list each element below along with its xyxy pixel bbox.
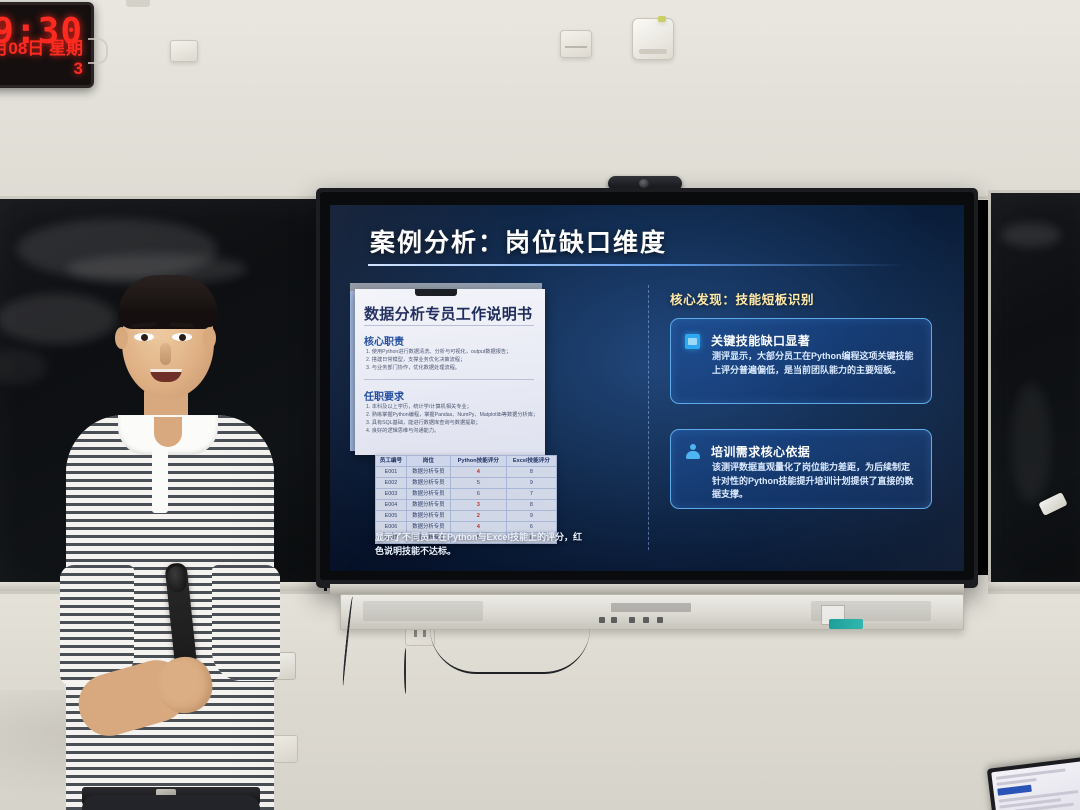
document-list-item: 2. 搭建日常模型，支撑业务优化决策流程； bbox=[366, 357, 465, 364]
ceiling-fixture bbox=[126, 0, 150, 7]
wall-cable bbox=[404, 648, 408, 694]
table-header-row: 员工编号 岗位 Python技能评分 Excel技能评分 bbox=[376, 456, 557, 467]
table-row: E005数据分析专员29 bbox=[376, 511, 557, 522]
table-row: E003数据分析专员67 bbox=[376, 489, 557, 500]
finding-card-title: 培训需求核心依据 bbox=[711, 443, 810, 460]
table-cell-job-post: 数据分析专员 bbox=[406, 489, 450, 500]
finding-card-training-basis[interactable]: 培训需求核心依据 该测评数据直观量化了岗位能力差距，为后续制定针对性的Pytho… bbox=[670, 429, 932, 509]
classroom-scene: 9:30 月08日 星期3 案例分析：岗位缺口维度 数据分析专员工作说明书 bbox=[0, 0, 1080, 810]
soundbar-teal-label bbox=[829, 619, 863, 629]
document-list-item: 1. 本科及以上学历，统计学/计算机相关专业； bbox=[366, 404, 472, 411]
selected-row-highlight bbox=[997, 785, 1032, 796]
table-header-cell: 岗位 bbox=[406, 456, 450, 467]
job-description-document[interactable]: 数据分析专员工作说明书 核心职责 1. 使用Python进行数据清洗、分析与可视… bbox=[355, 289, 545, 455]
clock-hanger bbox=[88, 38, 108, 64]
table-caption: 显示了不同员工在Python与Excel技能上的评分，红色说明技能不达标。 bbox=[375, 530, 590, 558]
sleeve-left bbox=[60, 565, 134, 685]
sleeve-stripes bbox=[212, 565, 280, 681]
table-cell-excel-score: 7 bbox=[506, 489, 556, 500]
table-row: E001数据分析专员48 bbox=[376, 467, 557, 478]
table-cell-python-score: 6 bbox=[450, 489, 506, 500]
table-cell-python-score: 5 bbox=[450, 478, 506, 489]
trousers bbox=[82, 795, 260, 810]
document-rule-1 bbox=[364, 325, 534, 326]
display-base bbox=[330, 584, 964, 594]
person-icon bbox=[685, 444, 701, 460]
slide-title: 案例分析：岗位缺口维度 bbox=[370, 223, 667, 259]
finding-card-title: 关键技能缺口显著 bbox=[711, 332, 810, 349]
document-list-item: 4. 良好的逻辑思维与沟通能力。 bbox=[366, 428, 439, 435]
eye-left bbox=[134, 333, 154, 341]
blackboard-right bbox=[988, 190, 1080, 594]
document-section-title-0: 核心职责 bbox=[364, 333, 404, 348]
table-header-cell: 员工编号 bbox=[376, 456, 407, 467]
table-cell-python-score: 4 bbox=[450, 467, 506, 478]
table-cell-excel-score: 9 bbox=[506, 478, 556, 489]
document-list-item: 3. 具有SQL基础，能进行数据库查询与数据提取； bbox=[366, 420, 481, 427]
table-row: E002数据分析专员59 bbox=[376, 478, 557, 489]
findings-heading: 核心发现：技能短板识别 bbox=[670, 289, 814, 308]
document-list-item: 3. 与业务部门协作，优化数据处理流程。 bbox=[366, 365, 460, 372]
back-wall-upper bbox=[0, 0, 1080, 200]
finding-card-body: 该测评数据直观量化了岗位能力差距，为后续制定针对性的Python技能提升培训计划… bbox=[712, 461, 917, 502]
monitor-icon bbox=[685, 334, 700, 349]
soundbar-buttons[interactable] bbox=[599, 617, 689, 623]
table-cell-employee-id: E002 bbox=[376, 478, 407, 489]
shirt-collar bbox=[118, 415, 218, 455]
finding-card-key-skill-gap[interactable]: 关键技能缺口显著 测评显示，大部分员工在Python编程这项关键技能上评分普遍偏… bbox=[670, 318, 932, 404]
wall-socket-icon bbox=[560, 30, 592, 58]
table-cell-job-post: 数据分析专员 bbox=[406, 500, 450, 511]
wall-plate-icon bbox=[170, 40, 198, 62]
ear-left bbox=[115, 327, 128, 349]
document-rule-2 bbox=[364, 379, 534, 380]
table-header-cell: Excel技能评分 bbox=[506, 456, 556, 467]
table-cell-employee-id: E001 bbox=[376, 467, 407, 478]
soundbar-console[interactable] bbox=[340, 594, 964, 630]
table-cell-excel-score: 8 bbox=[506, 500, 556, 511]
table-cell-job-post: 数据分析专员 bbox=[406, 511, 450, 522]
clock-date: 月08日 星期3 bbox=[0, 34, 91, 79]
hair bbox=[118, 275, 218, 329]
laptop-screen[interactable] bbox=[991, 761, 1080, 810]
document-list-item: 1. 使用Python进行数据清洗、分析与可视化，output数据报告； bbox=[366, 349, 511, 356]
document-section-title-1: 任职要求 bbox=[364, 388, 404, 403]
table-cell-job-post: 数据分析专员 bbox=[406, 467, 450, 478]
hanging-cable bbox=[430, 628, 590, 674]
title-divider bbox=[368, 264, 906, 266]
document-heading: 数据分析专员工作说明书 bbox=[364, 303, 532, 324]
led-wall-clock: 9:30 月08日 星期3 bbox=[0, 2, 94, 88]
document-list-item: 2. 熟练掌握Python编程，掌握Pandas、NumPy、Matplotli… bbox=[366, 412, 538, 419]
sleeve-stripes bbox=[60, 565, 134, 685]
ceiling-sensor-icon bbox=[632, 18, 674, 60]
eye-right bbox=[172, 333, 192, 341]
table-cell-python-score: 3 bbox=[450, 500, 506, 511]
table-cell-excel-score: 8 bbox=[506, 467, 556, 478]
presentation-slide[interactable]: 案例分析：岗位缺口维度 数据分析专员工作说明书 核心职责 1. 使用Python… bbox=[330, 205, 964, 571]
table-header-cell: Python技能评分 bbox=[450, 456, 506, 467]
nose bbox=[160, 343, 171, 365]
table-cell-employee-id: E004 bbox=[376, 500, 407, 511]
table-cell-job-post: 数据分析专员 bbox=[406, 478, 450, 489]
table-row: E004数据分析专员38 bbox=[376, 500, 557, 511]
finding-card-body: 测评显示，大部分员工在Python编程这项关键技能上评分普遍偏低，是当前团队能力… bbox=[712, 350, 917, 377]
table-cell-employee-id: E003 bbox=[376, 489, 407, 500]
table-cell-employee-id: E005 bbox=[376, 511, 407, 522]
speaker-grill-left bbox=[363, 601, 483, 621]
sleeve-right bbox=[212, 565, 280, 681]
table-cell-python-score: 2 bbox=[450, 511, 506, 522]
table-cell-excel-score: 9 bbox=[506, 511, 556, 522]
column-divider bbox=[648, 285, 649, 550]
ear-right bbox=[203, 327, 216, 349]
sensor-led-icon bbox=[658, 16, 666, 22]
shirt-placket bbox=[152, 447, 168, 513]
document-notch-icon bbox=[415, 289, 457, 296]
soundbar-logo bbox=[611, 603, 691, 612]
presenter bbox=[60, 265, 280, 810]
chalk-rail-right bbox=[988, 582, 1080, 591]
